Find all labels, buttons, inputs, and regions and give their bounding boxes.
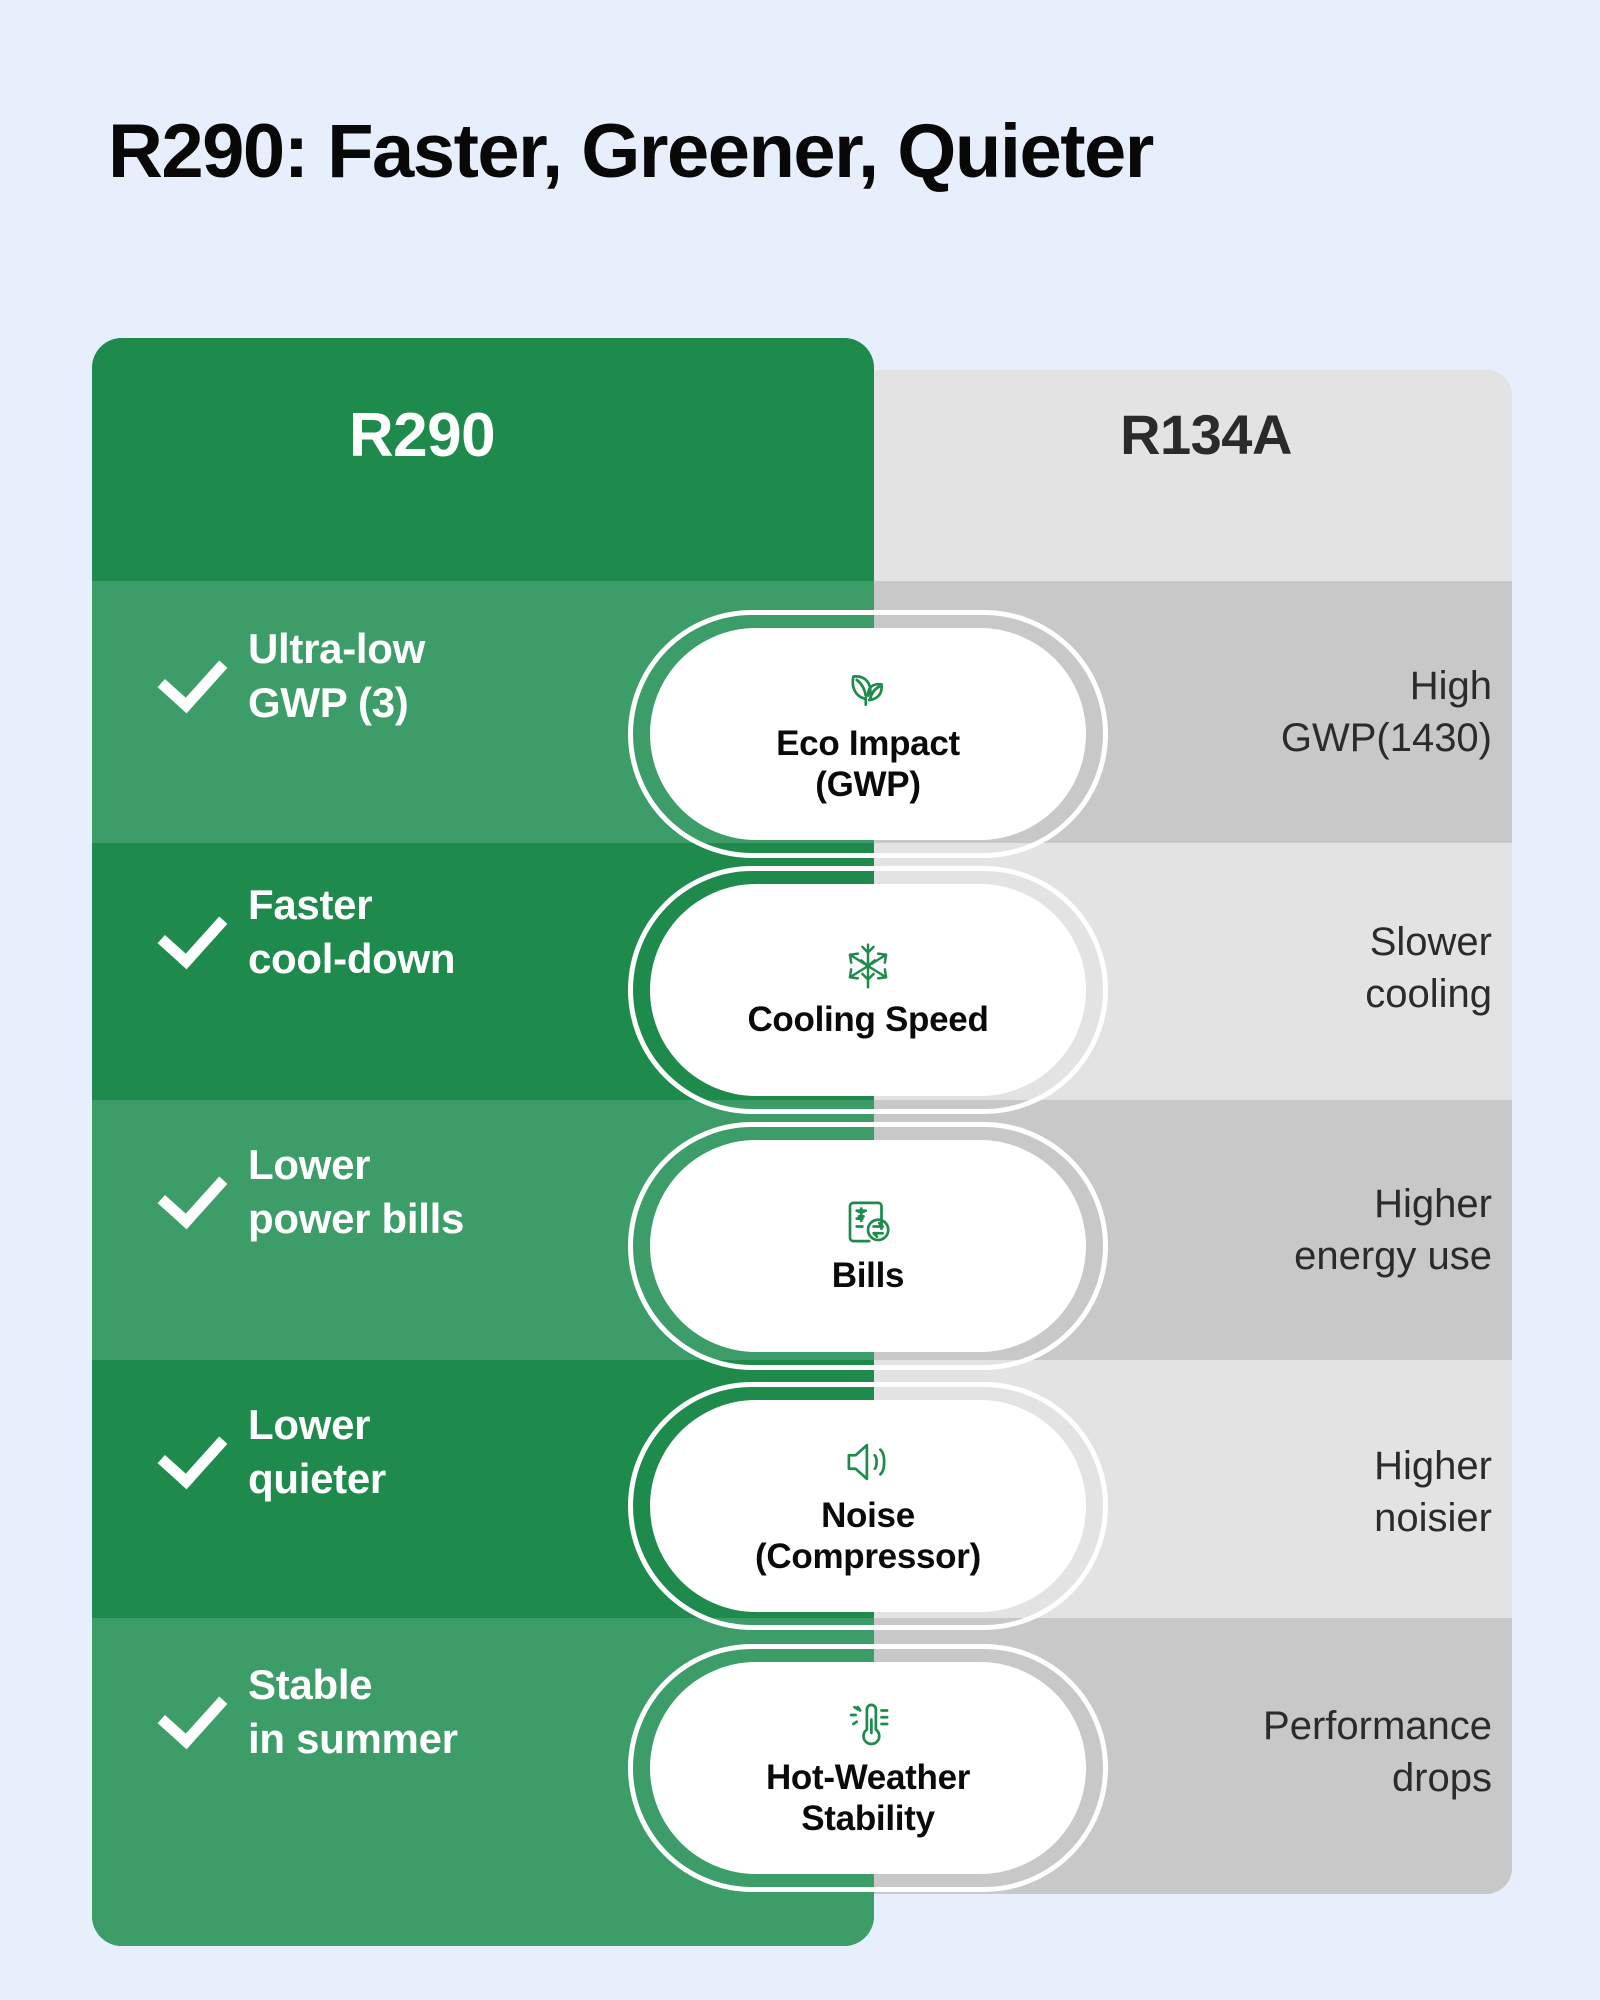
- row-4-right-line1: Higher: [1374, 1444, 1492, 1488]
- row-4-left-line2: quieter: [248, 1455, 386, 1502]
- row-1-left-cell: Ultra-low GWP (3): [160, 622, 680, 730]
- row-5-left-text: Stable in summer: [248, 1658, 458, 1766]
- bill-icon: [841, 1195, 895, 1249]
- column-header-r134a: R134A: [900, 402, 1512, 467]
- row-5-feature-line2: Stability: [801, 1799, 934, 1838]
- row-2-pill-body: Cooling Speed: [650, 884, 1086, 1096]
- row-4-left-text: Lower quieter: [248, 1398, 386, 1506]
- column-header-r290: R290: [92, 400, 752, 471]
- row-3-pill-body: Bills: [650, 1140, 1086, 1352]
- row-2-feature-label: Cooling Speed: [747, 999, 988, 1040]
- row-3-left-cell: Lower power bills: [160, 1138, 680, 1246]
- row-1-left-text: Ultra-low GWP (3): [248, 622, 425, 730]
- row-5-right-line2: drops: [1392, 1756, 1492, 1800]
- row-3-feature-label: Bills: [832, 1255, 904, 1296]
- row-2-right-line2: cooling: [1365, 972, 1492, 1016]
- infographic-page: R290: Faster, Greener, Quieter R290 R134…: [0, 0, 1600, 2000]
- row-3-left-text: Lower power bills: [248, 1138, 464, 1246]
- row-5-pill-body: Hot-Weather Stability: [650, 1662, 1086, 1874]
- check-icon: [160, 1421, 222, 1483]
- row-2-left-text: Faster cool-down: [248, 878, 455, 986]
- row-5-right-cell: Performance drops: [1032, 1700, 1492, 1804]
- row-1-feature-line1: Eco Impact: [776, 724, 960, 763]
- row-1-left-line2: GWP (3): [248, 679, 408, 726]
- row-4-feature-label: Noise (Compressor): [755, 1495, 981, 1578]
- row-1-right-line1: High: [1410, 664, 1492, 708]
- check-icon: [160, 645, 222, 707]
- row-5-left-line1: Stable: [248, 1661, 372, 1708]
- leaf-icon: [841, 663, 895, 717]
- row-2-right-line1: Slower: [1370, 920, 1492, 964]
- row-3-right-line1: Higher: [1374, 1182, 1492, 1226]
- row-5-left-line2: in summer: [248, 1715, 458, 1762]
- speaker-icon: [841, 1435, 895, 1489]
- row-2-left-line2: cool-down: [248, 935, 455, 982]
- row-1-right-line2: GWP(1430): [1281, 716, 1492, 760]
- row-5-feature-label: Hot-Weather Stability: [766, 1757, 970, 1840]
- row-3-left-line1: Lower: [248, 1141, 370, 1188]
- row-2-right-cell: Slower cooling: [1032, 916, 1492, 1020]
- row-2-left-cell: Faster cool-down: [160, 878, 680, 986]
- row-4-left-cell: Lower quieter: [160, 1398, 680, 1506]
- row-1-feature-line2: (GWP): [815, 765, 920, 804]
- check-icon: [160, 901, 222, 963]
- row-4-left-line1: Lower: [248, 1401, 370, 1448]
- row-3-left-line2: power bills: [248, 1195, 464, 1242]
- row-4-feature-line1: Noise: [821, 1496, 915, 1535]
- row-2-left-line1: Faster: [248, 881, 372, 928]
- row-5-left-cell: Stable in summer: [160, 1658, 680, 1766]
- row-1-feature-label: Eco Impact (GWP): [776, 723, 960, 806]
- row-1-pill-body: Eco Impact (GWP): [650, 628, 1086, 840]
- row-3-right-line2: energy use: [1294, 1234, 1492, 1278]
- page-title: R290: Faster, Greener, Quieter: [108, 108, 1153, 195]
- row-5-feature-line1: Hot-Weather: [766, 1758, 970, 1797]
- row-4-right-cell: Higher noisier: [1032, 1440, 1492, 1544]
- row-4-feature-line2: (Compressor): [755, 1537, 981, 1576]
- row-5-right-line1: Performance: [1263, 1704, 1492, 1748]
- snowflake-icon: [841, 939, 895, 993]
- row-1-left-line1: Ultra-low: [248, 625, 425, 672]
- row-1-right-cell: High GWP(1430): [1032, 660, 1492, 764]
- row-3-right-cell: Higher energy use: [1032, 1178, 1492, 1282]
- check-icon: [160, 1161, 222, 1223]
- check-icon: [160, 1681, 222, 1743]
- row-4-right-line2: noisier: [1374, 1496, 1492, 1540]
- thermometer-sun-icon: [841, 1697, 895, 1751]
- row-4-pill-body: Noise (Compressor): [650, 1400, 1086, 1612]
